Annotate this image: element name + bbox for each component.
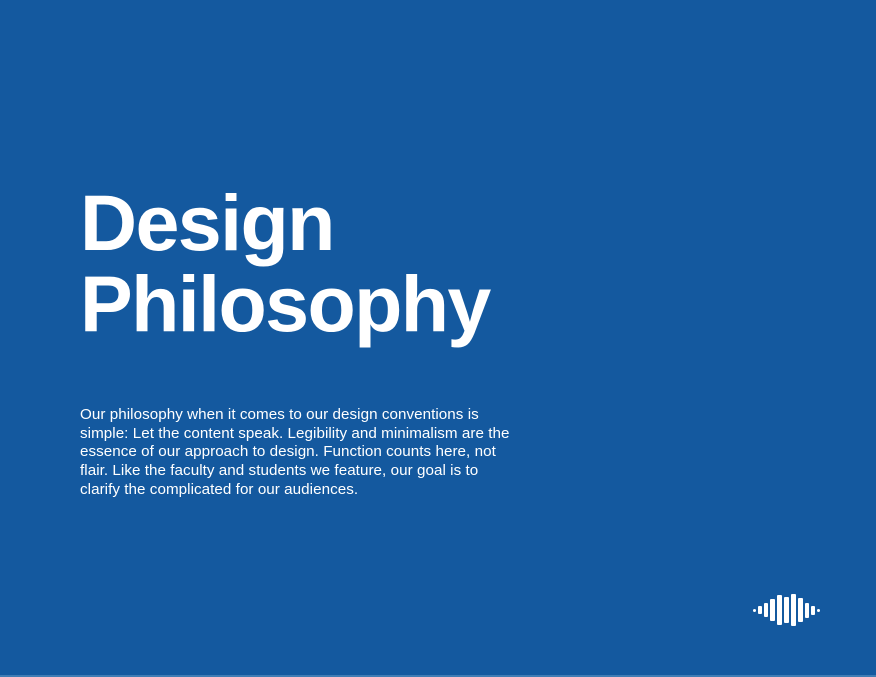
page-title: Design Philosophy [80,182,700,344]
waveform-bar [758,606,762,614]
slide-canvas: Design Philosophy Our philosophy when it… [0,0,876,677]
page-title-line-1: Design [80,182,700,263]
body-paragraph: Our philosophy when it comes to our desi… [80,406,512,499]
audio-waveform-icon [755,592,817,628]
waveform-bar [764,603,768,617]
waveform-bar [791,594,796,626]
waveform-bar [770,599,775,621]
page-title-line-2: Philosophy [80,263,700,344]
waveform-bar [798,598,803,622]
waveform-bar [753,609,756,612]
waveform-bar [811,606,815,615]
waveform-bar [817,609,820,612]
waveform-bar [805,603,809,618]
waveform-bar [784,597,789,623]
waveform-bar [777,595,782,625]
